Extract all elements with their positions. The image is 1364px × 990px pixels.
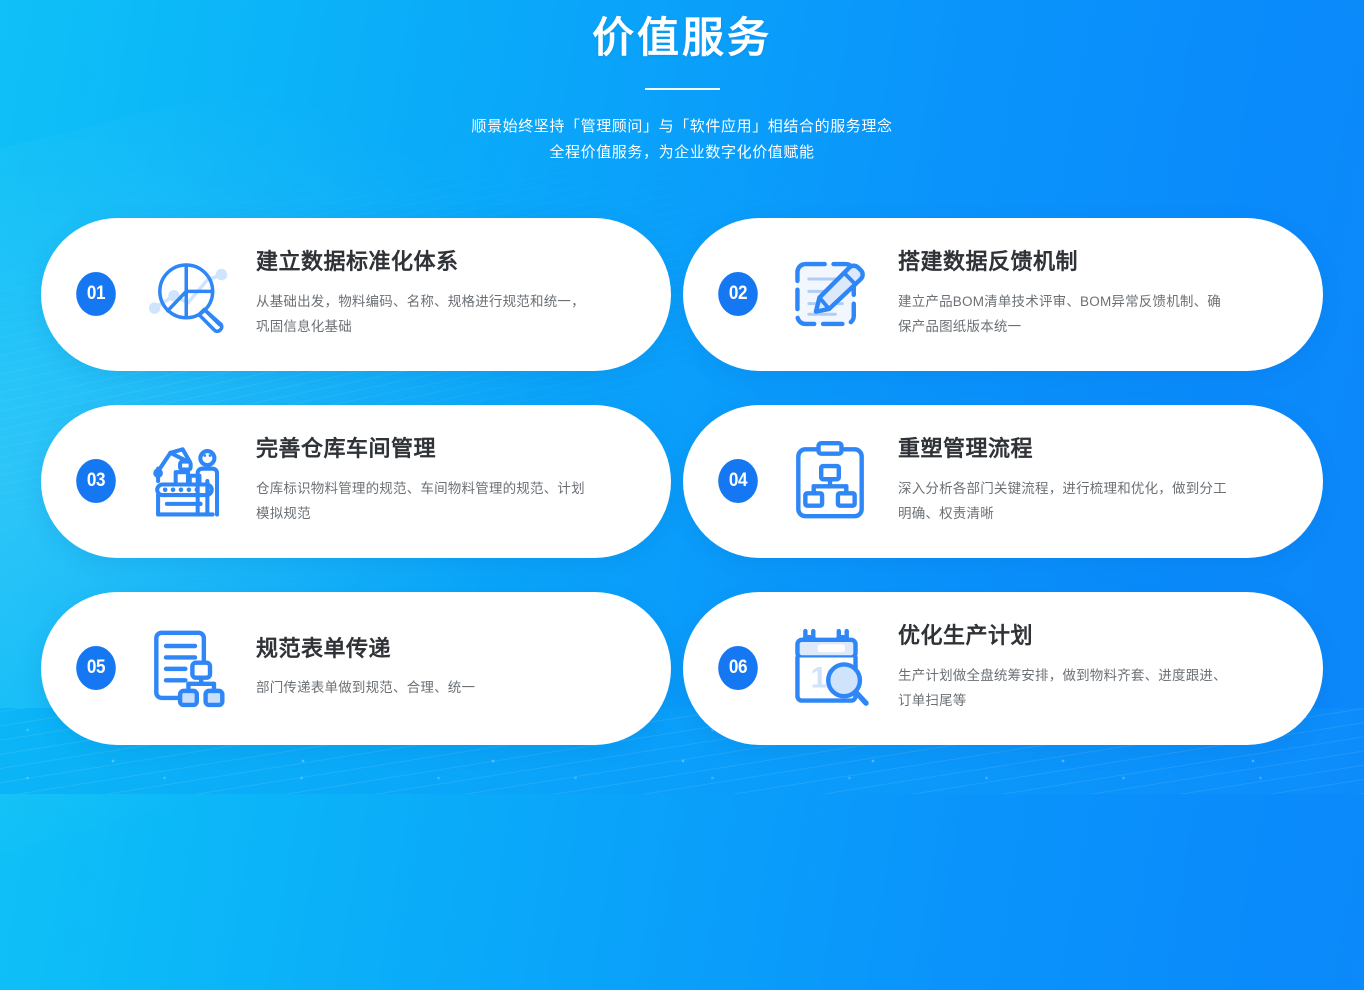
page-subtitle: 顺景始终坚持「管理顾问」与「软件应用」相结合的服务理念 全程价值服务，为企业数字… [0,114,1364,166]
card-title: 完善仓库车间管理 [256,436,631,462]
card-title: 建立数据标准化体系 [256,249,631,275]
card-number-badge: 02 [718,272,758,316]
card-description: 建立产品BOM清单技术评审、BOM异常反馈机制、确保产品图纸版本统一 [898,289,1234,339]
service-card-02[interactable]: 02 搭建数据反馈机制 建立产品BOM清单技术评审、BOM异常反馈机制、确保产品… [683,218,1323,371]
service-card-05[interactable]: 05 [41,592,671,745]
notepad-pencil-icon [782,246,878,342]
service-card-06[interactable]: 06 11 优化生产计划 生产计划做全盘统筹安排，做到物料齐套、进度跟进、订单扫… [683,592,1323,745]
section-header: 价值服务 顺景始终坚持「管理顾问」与「软件应用」相结合的服务理念 全程价值服务，… [0,0,1364,166]
card-number-badge: 05 [76,646,116,690]
document-flow-icon [140,620,236,716]
service-card-grid: 01 建立数据标准化体系 从基础出发， [0,218,1364,745]
card-number-badge: 03 [76,459,116,503]
card-body: 建立数据标准化体系 从基础出发，物料编码、名称、规格进行规范和统一，巩固信息化基… [236,249,671,338]
calendar-magnifier-icon: 11 [782,620,878,716]
card-title: 搭建数据反馈机制 [898,249,1283,275]
card-description: 部门传递表单做到规范、合理、统一 [256,675,586,700]
factory-conveyor-worker-icon [140,433,236,529]
card-body: 重塑管理流程 深入分析各部门关键流程，进行梳理和优化，做到分工明确、权责清晰 [878,436,1323,525]
card-number-badge: 01 [76,272,116,316]
card-description: 从基础出发，物料编码、名称、规格进行规范和统一，巩固信息化基础 [256,289,586,339]
card-title: 规范表单传递 [256,636,631,662]
card-body: 优化生产计划 生产计划做全盘统筹安排，做到物料齐套、进度跟进、订单扫尾等 [878,623,1323,712]
card-number-badge: 04 [718,459,758,503]
service-card-04[interactable]: 04 重塑管理流程 深入分析各部门关键流程，进行梳理和优化，做到分工明确、权责清… [683,405,1323,558]
page-title: 价值服务 [0,12,1364,65]
clipboard-orgchart-icon [782,433,878,529]
card-description: 仓库标识物料管理的规范、车间物料管理的规范、计划模拟规范 [256,476,586,526]
card-number-badge: 06 [718,646,758,690]
card-title: 重塑管理流程 [898,436,1283,462]
title-divider [645,88,720,90]
service-card-03[interactable]: 03 [41,405,671,558]
card-description: 生产计划做全盘统筹安排，做到物料齐套、进度跟进、订单扫尾等 [898,663,1234,713]
subtitle-line-1: 顺景始终坚持「管理顾问」与「软件应用」相结合的服务理念 [0,114,1364,140]
subtitle-line-2: 全程价值服务，为企业数字化价值赋能 [0,140,1364,166]
pie-chart-magnifier-icon [140,246,236,342]
card-description: 深入分析各部门关键流程，进行梳理和优化，做到分工明确、权责清晰 [898,476,1234,526]
card-body: 搭建数据反馈机制 建立产品BOM清单技术评审、BOM异常反馈机制、确保产品图纸版… [878,249,1323,338]
card-body: 完善仓库车间管理 仓库标识物料管理的规范、车间物料管理的规范、计划模拟规范 [236,436,671,525]
card-body: 规范表单传递 部门传递表单做到规范、合理、统一 [236,636,671,700]
card-title: 优化生产计划 [898,623,1283,649]
service-card-01[interactable]: 01 建立数据标准化体系 从基础出发， [41,218,671,371]
